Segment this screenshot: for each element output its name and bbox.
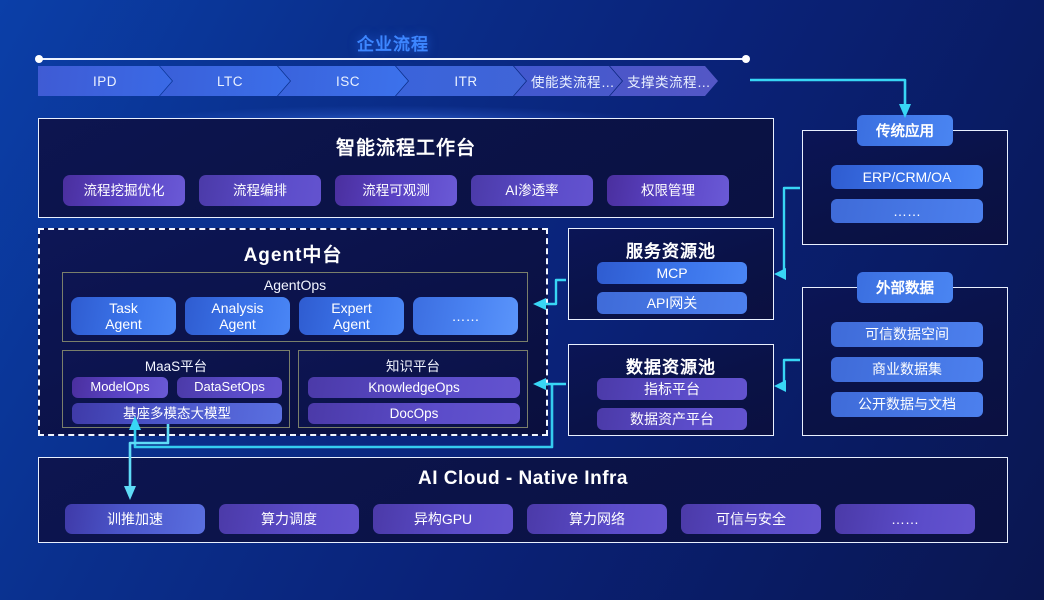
workbench-items: 流程挖掘优化 流程编排 流程可观测 AI渗透率 权限管理 bbox=[63, 175, 729, 206]
wire-traditional-to-service-pool bbox=[774, 188, 800, 280]
agent-card-analysis-line1: Analysis bbox=[211, 300, 263, 316]
agentops-title: AgentOps bbox=[63, 277, 527, 293]
agent-card-expert[interactable]: Expert Agent bbox=[299, 297, 404, 335]
process-step-supporting[interactable]: 支撑类流程… bbox=[610, 66, 718, 96]
agentops-cards: Task Agent Analysis Agent Expert Agent …… bbox=[71, 297, 518, 335]
maas-item-foundation-model[interactable]: 基座多模态大模型 bbox=[72, 403, 282, 424]
process-rail bbox=[38, 58, 748, 60]
external-data-item-trusted-space[interactable]: 可信数据空间 bbox=[831, 322, 983, 347]
infra-item-trust-security[interactable]: 可信与安全 bbox=[681, 504, 821, 534]
external-data-title: 外部数据 bbox=[857, 272, 953, 303]
traditional-apps-panel: 传统应用 ERP/CRM/OA …… bbox=[802, 130, 1008, 245]
external-data-panel: 外部数据 可信数据空间 商业数据集 公开数据与文档 bbox=[802, 287, 1008, 436]
service-pool-item-api-gateway[interactable]: API网关 bbox=[597, 292, 747, 314]
knowledge-panel: 知识平台 KnowledgeOps DocOps bbox=[298, 350, 528, 428]
infra-item-compute-network[interactable]: 算力网络 bbox=[527, 504, 667, 534]
agent-card-more[interactable]: …… bbox=[413, 297, 518, 335]
process-step-ltc[interactable]: LTC bbox=[160, 66, 290, 96]
maas-item-modelops[interactable]: ModelOps bbox=[72, 377, 168, 398]
agent-card-analysis[interactable]: Analysis Agent bbox=[185, 297, 290, 335]
infra-title: AI Cloud - Native Infra bbox=[39, 468, 1007, 490]
maas-title: MaaS平台 bbox=[63, 355, 289, 375]
process-flow-title: 企业流程 bbox=[0, 30, 786, 55]
data-pool-items: 指标平台 数据资产平台 bbox=[597, 378, 747, 430]
service-pool-title: 服务资源池 bbox=[569, 237, 773, 262]
traditional-app-item-erp-crm-oa[interactable]: ERP/CRM/OA bbox=[831, 165, 983, 189]
ai-cloud-native-infra: AI Cloud - Native Infra 训推加速 算力调度 异构GPU … bbox=[38, 457, 1008, 543]
data-resource-pool: 数据资源池 指标平台 数据资产平台 bbox=[568, 344, 774, 436]
traditional-apps-title: 传统应用 bbox=[857, 115, 953, 146]
data-pool-title: 数据资源池 bbox=[569, 353, 773, 378]
maas-item-datasetops[interactable]: DataSetOps bbox=[177, 377, 282, 398]
process-step-ipd[interactable]: IPD bbox=[38, 66, 172, 96]
service-pool-item-mcp[interactable]: MCP bbox=[597, 262, 747, 284]
workbench-item-permissions[interactable]: 权限管理 bbox=[607, 175, 729, 206]
infra-items: 训推加速 算力调度 异构GPU 算力网络 可信与安全 …… bbox=[65, 504, 975, 534]
external-data-items: 可信数据空间 商业数据集 公开数据与文档 bbox=[831, 322, 983, 417]
knowledge-item-knowledgeops[interactable]: KnowledgeOps bbox=[308, 377, 520, 398]
service-pool-items: MCP API网关 bbox=[597, 262, 747, 314]
infra-item-compute-scheduling[interactable]: 算力调度 bbox=[219, 504, 359, 534]
wire-external-to-data-pool bbox=[774, 360, 800, 392]
agent-card-task[interactable]: Task Agent bbox=[71, 297, 176, 335]
process-flow-bar: IPD LTC ISC ITR 使能类流程… 支撑类流程… bbox=[38, 66, 718, 96]
traditional-apps-items: ERP/CRM/OA …… bbox=[831, 165, 983, 223]
agentops-panel: AgentOps Task Agent Analysis Agent Exper… bbox=[62, 272, 528, 342]
external-data-item-commercial[interactable]: 商业数据集 bbox=[831, 357, 983, 382]
process-step-itr[interactable]: ITR bbox=[396, 66, 526, 96]
workbench-item-process-mining[interactable]: 流程挖掘优化 bbox=[63, 175, 185, 206]
wire-flow-to-traditional-apps bbox=[750, 80, 911, 118]
workbench-item-observability[interactable]: 流程可观测 bbox=[335, 175, 457, 206]
infra-item-more[interactable]: …… bbox=[835, 504, 975, 534]
process-step-isc[interactable]: ISC bbox=[278, 66, 408, 96]
data-pool-item-data-asset[interactable]: 数据资产平台 bbox=[597, 408, 747, 430]
agent-card-analysis-line2: Agent bbox=[219, 316, 256, 332]
knowledge-title: 知识平台 bbox=[299, 355, 527, 375]
workbench-item-ai-penetration[interactable]: AI渗透率 bbox=[471, 175, 593, 206]
knowledge-item-docops[interactable]: DocOps bbox=[308, 403, 520, 424]
agent-card-task-line1: Task bbox=[109, 300, 138, 316]
infra-item-train-infer-accel[interactable]: 训推加速 bbox=[65, 504, 205, 534]
intelligent-process-workbench: 智能流程工作台 流程挖掘优化 流程编排 流程可观测 AI渗透率 权限管理 bbox=[38, 118, 774, 218]
agent-card-expert-line2: Agent bbox=[333, 316, 370, 332]
external-data-item-public-docs[interactable]: 公开数据与文档 bbox=[831, 392, 983, 417]
agent-card-expert-line1: Expert bbox=[331, 300, 371, 316]
agent-card-more-line1: …… bbox=[452, 308, 480, 324]
maas-row-foundation: 基座多模态大模型 bbox=[72, 403, 282, 424]
agent-middle-platform: Agent中台 AgentOps Task Agent Analysis Age… bbox=[38, 228, 548, 436]
rail-dot-right bbox=[742, 55, 750, 63]
diagram-canvas: 企业流程 IPD LTC ISC ITR 使能类流程… 支撑类流程… 智能流程工… bbox=[0, 0, 1044, 600]
maas-row-ops: ModelOps DataSetOps bbox=[72, 377, 282, 398]
service-resource-pool: 服务资源池 MCP API网关 bbox=[568, 228, 774, 320]
data-pool-item-metrics-platform[interactable]: 指标平台 bbox=[597, 378, 747, 400]
maas-panel: MaaS平台 ModelOps DataSetOps 基座多模态大模型 bbox=[62, 350, 290, 428]
infra-item-heterogeneous-gpu[interactable]: 异构GPU bbox=[373, 504, 513, 534]
knowledge-row-1: KnowledgeOps bbox=[308, 377, 520, 398]
process-step-enabling[interactable]: 使能类流程… bbox=[514, 66, 622, 96]
traditional-app-item-more[interactable]: …… bbox=[831, 199, 983, 223]
agent-platform-title: Agent中台 bbox=[40, 240, 546, 267]
knowledge-row-2: DocOps bbox=[308, 403, 520, 424]
rail-dot-left bbox=[35, 55, 43, 63]
workbench-item-orchestration[interactable]: 流程编排 bbox=[199, 175, 321, 206]
workbench-title: 智能流程工作台 bbox=[39, 133, 773, 160]
agent-card-task-line2: Agent bbox=[105, 316, 142, 332]
